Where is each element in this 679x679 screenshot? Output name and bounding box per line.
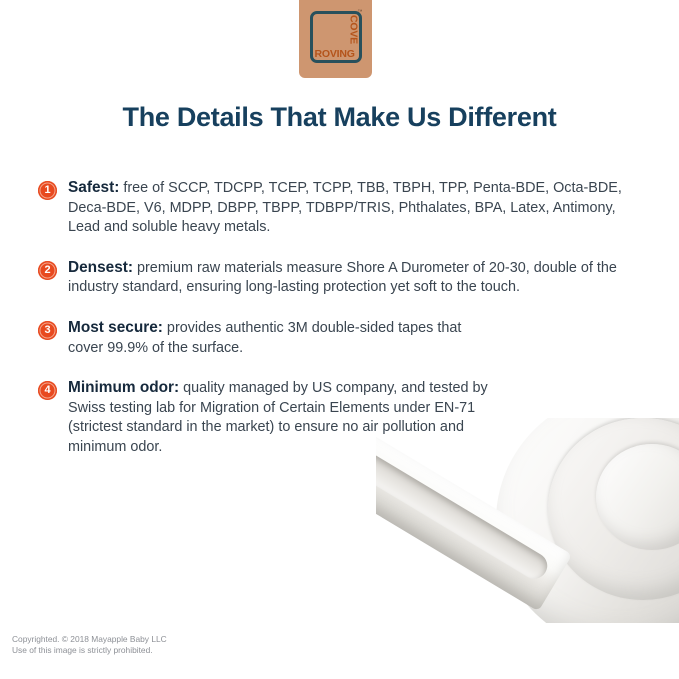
list-item: 2 Densest: premium raw materials measure… [38, 258, 638, 298]
list-item: 1 Safest: free of SCCP, TDCPP, TCEP, TCP… [38, 178, 638, 238]
list-item-text: Densest: premium raw materials measure S… [68, 260, 617, 296]
list-item-text: Safest: free of SCCP, TDCPP, TCEP, TCPP,… [68, 180, 622, 235]
list-item-lead: Minimum odor: [68, 379, 179, 396]
coil-middle-ring [548, 418, 679, 600]
list-item-body: free of SCCP, TDCPP, TCEP, TCPP, TBB, TB… [68, 180, 622, 235]
copyright-notice: Copyrighted. © 2018 Mayapple Baby LLC Us… [12, 634, 167, 657]
brand-logo: ROVING COVE ™ [299, 0, 372, 78]
product-photo-foam-edge-guard [376, 418, 679, 623]
copyright-line-2: Use of this image is strictly prohibited… [12, 645, 167, 657]
list-item-body: premium raw materials measure Shore A Du… [68, 260, 617, 296]
list-number-badge: 1 [38, 181, 57, 200]
logo-frame-icon: ROVING COVE ™ [310, 11, 362, 63]
copyright-line-1: Copyrighted. © 2018 Mayapple Baby LLC [12, 634, 167, 646]
list-number-badge: 2 [38, 261, 57, 280]
coil-inner-ring [596, 444, 679, 550]
list-number-badge: 3 [38, 321, 57, 340]
logo-word-roving: ROVING [315, 49, 355, 60]
list-item-lead: Safest: [68, 179, 119, 196]
list-number-badge: 4 [38, 381, 57, 400]
page-title: The Details That Make Us Different [0, 102, 679, 133]
list-item-text: Most secure: provides authentic 3M doubl… [68, 320, 461, 356]
list-item: 3 Most secure: provides authentic 3M dou… [38, 318, 468, 358]
logo-word-cove: COVE [348, 15, 359, 44]
trademark-icon: ™ [358, 9, 363, 15]
list-item-lead: Densest: [68, 259, 133, 276]
list-item-lead: Most secure: [68, 319, 163, 336]
infographic-page: ROVING COVE ™ The Details That Make Us D… [0, 0, 679, 679]
